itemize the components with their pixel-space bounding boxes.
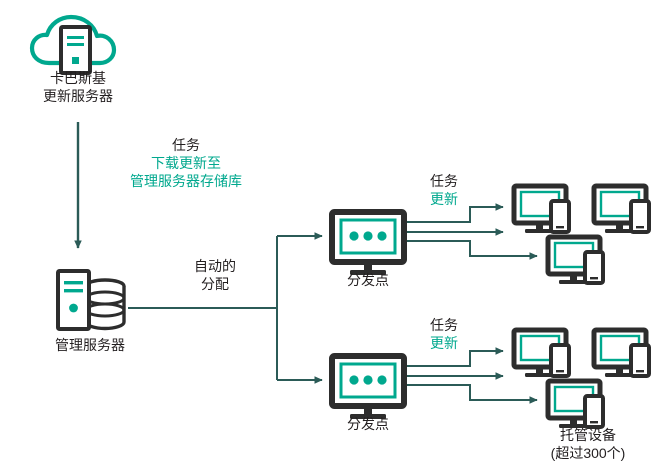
automatic-distribution-label-line1: 自动的 [155,258,275,276]
update-server-label-line2: 更新服务器 [5,88,151,106]
managed-device-icon-1 [514,186,569,233]
download-task-label: 任务 下载更新至 管理服务器存储库 [96,137,276,191]
update-task-top-label: 任务 更新 [396,173,492,209]
administration-server-label-line1: 管理服务器 [20,337,160,355]
managed-devices-label-line2: (超过300个) [516,445,660,463]
update-task-top-label-line1: 任务 [396,173,492,191]
distribution-point-icon-bottom [332,356,404,419]
managed-devices-label: 托管设备 (超过300个) [516,427,660,463]
managed-devices-label-line1: 托管设备 [516,427,660,445]
distribution-point-top-label: 分发点 [310,272,426,290]
distribution-point-top-label-line1: 分发点 [310,272,426,290]
managed-device-icon-3 [548,237,603,284]
distribution-point-bottom-label: 分发点 [310,416,426,434]
update-server-label: 卡巴斯基 更新服务器 [5,70,151,106]
update-server-label-line1: 卡巴斯基 [5,70,151,88]
automatic-distribution-label: 自动的 分配 [155,258,275,294]
update-task-bottom-label-line1: 任务 [396,317,492,335]
download-task-label-line1: 任务 [96,137,276,155]
update-task-bottom-label: 任务 更新 [396,317,492,353]
managed-device-icon-2 [594,186,649,233]
automatic-distribution-label-line2: 分配 [155,276,275,294]
download-task-label-line3: 管理服务器存储库 [96,173,276,191]
managed-device-icon-6 [548,381,603,428]
update-task-bottom-label-line2: 更新 [396,335,492,353]
server-database-icon [58,271,124,329]
managed-device-icon-5 [594,330,649,377]
managed-device-icon-4 [514,330,569,377]
administration-server-label: 管理服务器 [20,337,160,355]
update-task-top-label-line2: 更新 [396,191,492,209]
distribution-point-icon-top [332,212,404,275]
distribution-point-bottom-label-line1: 分发点 [310,416,426,434]
network-topology-diagram: 卡巴斯基 更新服务器 任务 下载更新至 管理服务器存储库 管理服务器 自动的 分… [0,0,660,475]
download-task-label-line2: 下载更新至 [96,155,276,173]
cloud-server-icon [32,17,114,73]
